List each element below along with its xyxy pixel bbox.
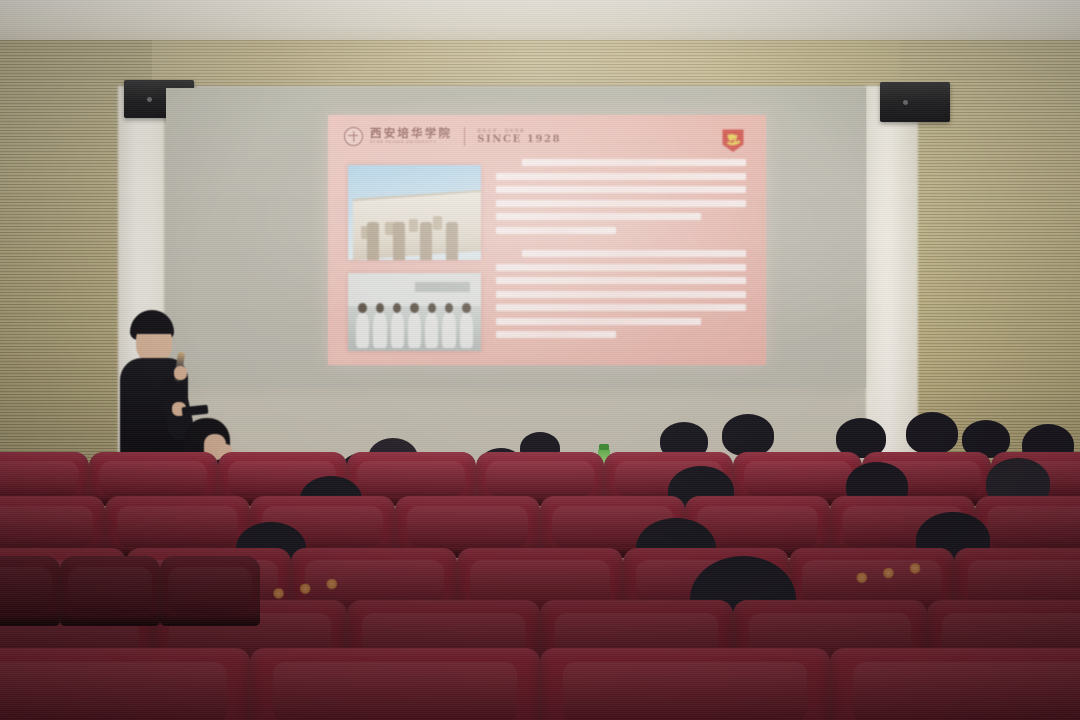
text-line [496,227,616,234]
auditorium-seat[interactable] [830,648,1080,720]
since-label: SINCE 1928 [477,135,561,145]
historic-building-photo [348,165,481,260]
slide-body-text [496,159,746,345]
presentation-slide: 西安培华学院 XI'AN PEIHUA UNIVERSITY 民办大学 · 百年… [328,115,766,365]
text-line [522,250,746,257]
text-line [496,186,746,193]
text-line [496,318,701,325]
auditorium-seat[interactable] [250,648,540,720]
text-line [496,277,746,284]
seat-row-5 [0,556,260,626]
auditorium-seat[interactable] [540,648,830,720]
text-line [496,331,616,338]
seat-row-6 [0,648,1080,720]
audience-head [906,412,958,454]
audience-head [722,414,774,456]
auditorium-seat[interactable] [0,556,60,626]
text-line [496,200,746,207]
text-line [522,159,746,166]
auditorium-seat[interactable] [0,648,250,720]
header-divider [464,127,465,146]
slide-brand-header: 西安培华学院 XI'AN PEIHUA UNIVERSITY 民办大学 · 百年… [344,127,561,146]
auditorium-scene: 西安培华学院 XI'AN PEIHUA UNIVERSITY 民办大学 · 百年… [0,0,1080,720]
text-line [496,264,746,271]
historic-assembly-photo [348,273,481,351]
university-seal-icon [344,127,363,146]
university-name-cn: 西安培华学院 [370,128,452,140]
cpc-emblem-icon [718,125,748,155]
right-speaker [880,82,950,122]
text-line [496,213,701,220]
text-line [496,304,746,311]
auditorium-seat[interactable] [160,556,260,626]
university-tagline: 民办大学 · 百年传承 [477,129,561,133]
text-line [496,291,746,298]
auditorium-seat[interactable] [60,556,160,626]
university-name-en: XI'AN PEIHUA UNIVERSITY [370,141,452,145]
water-bottle-cap [599,444,609,450]
mobile-phone [182,405,209,417]
text-line [496,173,746,180]
